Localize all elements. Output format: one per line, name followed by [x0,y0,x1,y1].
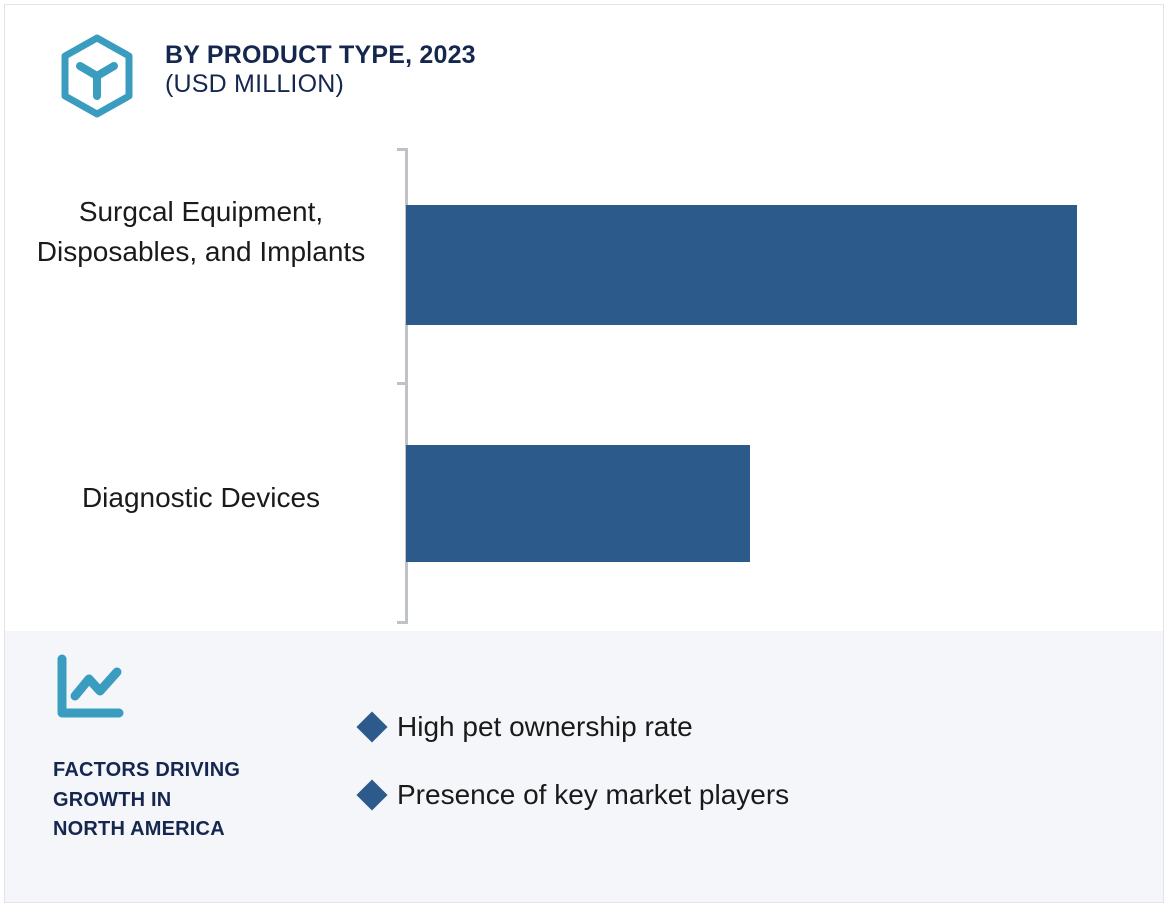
factors-heading-line: GROWTH IN [53,786,323,816]
bar-diagnostic-devices [406,445,750,562]
list-item-label: High pet ownership rate [397,711,693,743]
list-item-label: Presence of key market players [397,779,789,811]
infographic-card: BY PRODUCT TYPE, 2023 (USD MILLION) Surg… [4,4,1164,903]
category-label: Surgcal Equipment, Disposables, and Impl… [31,192,371,272]
factors-panel: FACTORS DRIVING GROWTH IN NORTH AMERICA … [5,631,1163,903]
list-item: Presence of key market players [361,779,1121,811]
line-chart-icon [53,654,125,722]
list-item: High pet ownership rate [361,711,1121,743]
header-text-block: BY PRODUCT TYPE, 2023 (USD MILLION) [165,41,476,99]
factors-heading: FACTORS DRIVING GROWTH IN NORTH AMERICA [53,756,323,845]
header: BY PRODUCT TYPE, 2023 (USD MILLION) [5,5,1163,135]
factors-heading-line: FACTORS DRIVING [53,756,323,786]
page-subtitle: (USD MILLION) [165,70,476,99]
diamond-bullet-icon [356,779,387,810]
diamond-bullet-icon [356,711,387,742]
factors-heading-line: NORTH AMERICA [53,815,323,845]
bar-surgical-equipment [406,205,1077,325]
bar-chart: Surgcal Equipment, Disposables, and Impl… [5,135,1163,631]
factors-bullet-list: High pet ownership rate Presence of key … [361,711,1121,847]
page-title: BY PRODUCT TYPE, 2023 [165,41,476,70]
hexagon-y-icon [53,32,141,120]
category-label: Diagnostic Devices [31,478,371,518]
